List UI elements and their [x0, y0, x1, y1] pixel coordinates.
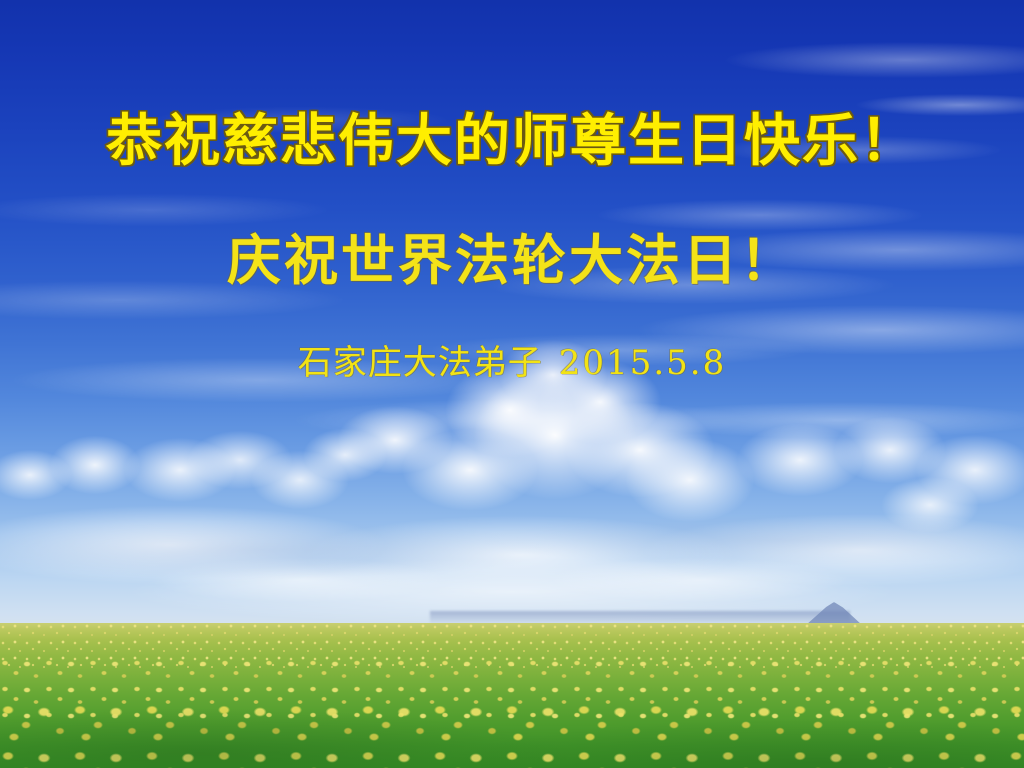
slide-canvas: 恭祝慈悲伟大的师尊生日快乐！ 庆祝世界法轮大法日！ 石家庄大法弟子2015.5.… — [0, 0, 1024, 768]
slide-text-layer: 恭祝慈悲伟大的师尊生日快乐！ 庆祝世界法轮大法日！ 石家庄大法弟子2015.5.… — [0, 0, 1024, 768]
byline-signature: 石家庄大法弟子 — [298, 343, 543, 383]
headline-line-1: 恭祝慈悲伟大的师尊生日快乐！ — [0, 114, 1024, 170]
byline: 石家庄大法弟子2015.5.8 — [0, 346, 1024, 380]
byline-date: 2015.5.8 — [543, 343, 726, 383]
headline-line-2: 庆祝世界法轮大法日！ — [0, 233, 1024, 287]
